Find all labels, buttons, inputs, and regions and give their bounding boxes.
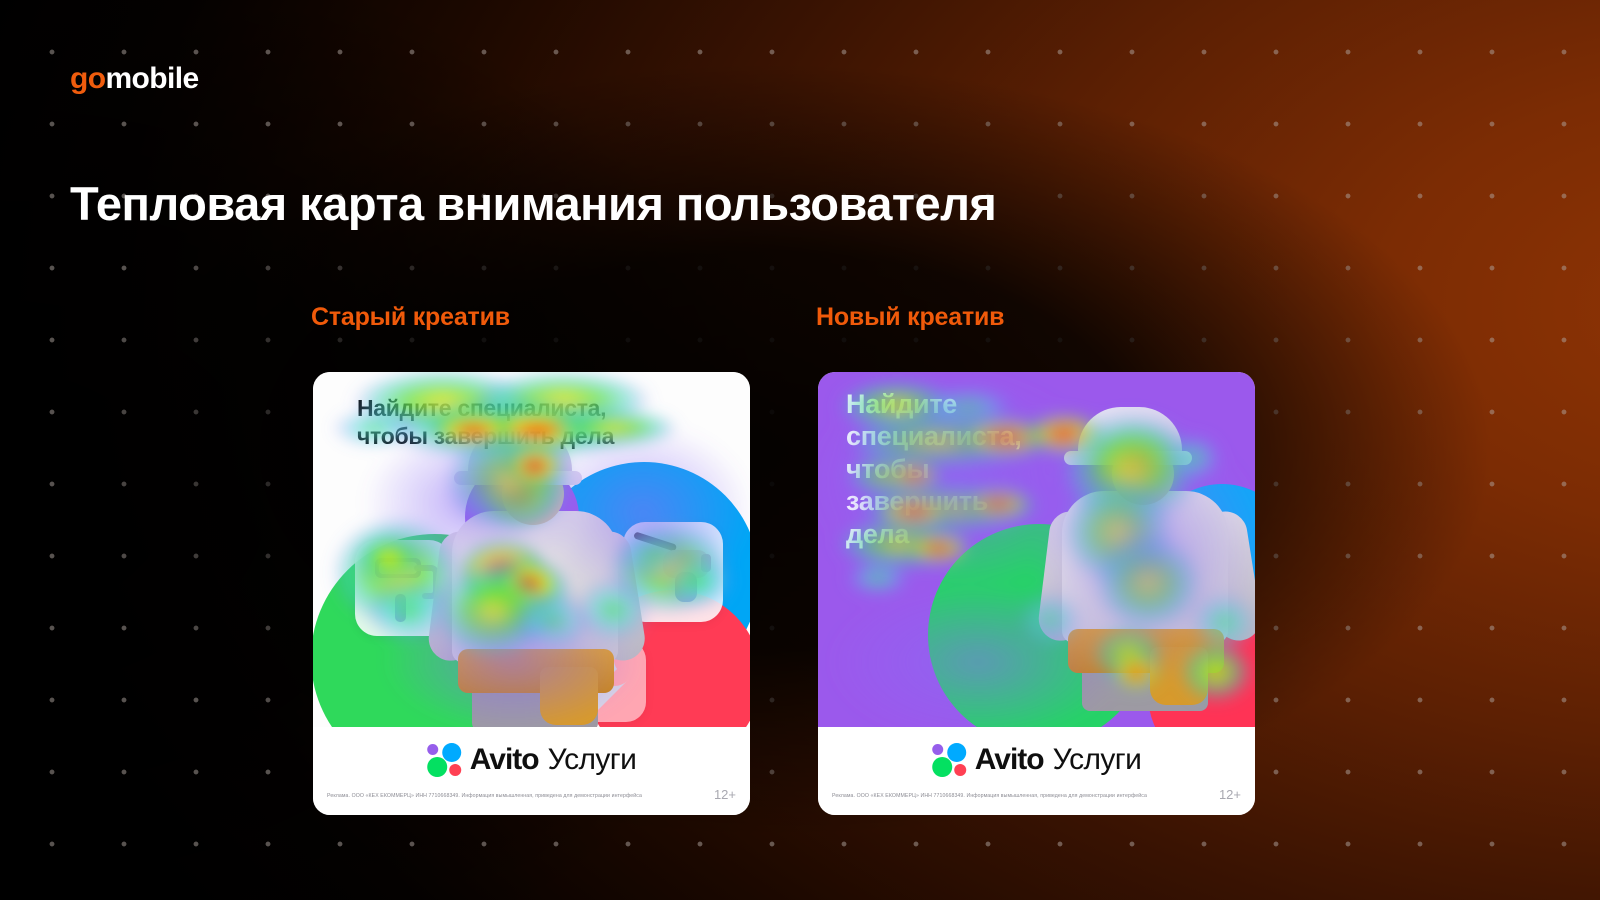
avito-brand-sub: Услуги — [548, 743, 637, 777]
worker-illustration — [436, 427, 636, 727]
worker-illustration — [1046, 407, 1252, 727]
creative-card-old[interactable]: Найдите специалиста, чтобы завершить дел… — [313, 372, 750, 815]
creative-footer-new: Avito Услуги Реклама. ООО «КЕХ ЕКОММЕРЦ»… — [818, 727, 1255, 815]
headline-line: завершить — [846, 485, 1076, 517]
creative-footer-old: Avito Услуги Реклама. ООО «КЕХ ЕКОММЕРЦ»… — [313, 727, 750, 815]
brand-logo-mobile: mobile — [105, 62, 198, 95]
headline-line: Найдите специалиста, — [357, 394, 717, 422]
age-rating-badge: 12+ — [1219, 787, 1241, 802]
avito-logo: Avito Услуги — [932, 743, 1142, 777]
ad-disclaimer: Реклама. ООО «КЕХ ЕКОММЕРЦ» ИНН 77106683… — [832, 793, 1202, 799]
avito-dots-icon — [932, 743, 966, 777]
column-heading-new: Новый креатив — [816, 303, 1004, 332]
avito-brand-name: Avito — [470, 743, 539, 777]
headline-line: специалиста, — [846, 420, 1076, 452]
ad-disclaimer: Реклама. ООО «КЕХ ЕКОММЕРЦ» ИНН 77106683… — [327, 793, 697, 799]
creative-headline-new: Найдите специалиста, чтобы завершить дел… — [846, 388, 1076, 550]
page-title: Тепловая карта внимания пользователя — [70, 176, 996, 231]
headline-line: дела — [846, 518, 1076, 550]
column-heading-old: Старый креатив — [311, 303, 510, 332]
avito-brand-name: Avito — [975, 743, 1044, 777]
brand-logo: gomobile — [70, 62, 199, 96]
avito-dots-icon — [427, 743, 461, 777]
avito-logo: Avito Услуги — [427, 743, 637, 777]
avito-brand-sub: Услуги — [1053, 743, 1142, 777]
creative-headline-old: Найдите специалиста, чтобы завершить дел… — [357, 394, 717, 450]
creative-artwork-new: Найдите специалиста, чтобы завершить дел… — [818, 372, 1255, 727]
headline-line: Найдите — [846, 388, 1076, 420]
headline-line: чтобы — [846, 453, 1076, 485]
age-rating-badge: 12+ — [714, 787, 736, 802]
creative-card-new[interactable]: Найдите специалиста, чтобы завершить дел… — [818, 372, 1255, 815]
headline-line: чтобы завершить дела — [357, 422, 717, 450]
creative-artwork-old: Найдите специалиста, чтобы завершить дел… — [313, 372, 750, 727]
brand-logo-go: go — [70, 62, 105, 95]
